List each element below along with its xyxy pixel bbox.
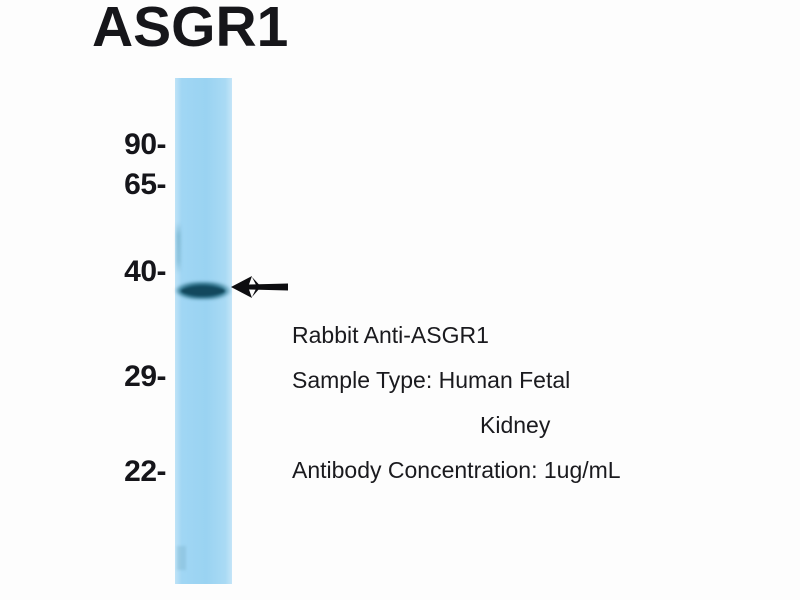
mw-marker-90-label: 90- — [124, 128, 166, 162]
annotation-line-sample-type: Sample Type: Human Fetal — [292, 358, 762, 403]
mw-marker-22-label: 22- — [124, 455, 166, 489]
gel-lane — [175, 78, 232, 584]
protein-band-core — [181, 287, 225, 295]
page-title: ASGR1 — [92, 0, 288, 58]
lane-streak-artifact — [176, 222, 181, 274]
mw-marker-22: 22- — [100, 455, 166, 489]
annotation-line-concentration: Antibody Concentration: 1ug/mL — [292, 448, 762, 493]
annotation-block: Rabbit Anti-ASGR1 Sample Type: Human Fet… — [292, 313, 762, 493]
annotation-line-antibody: Rabbit Anti-ASGR1 — [292, 313, 762, 358]
mw-marker-40-label: 40- — [124, 255, 166, 289]
mw-marker-65: 65- — [100, 168, 166, 202]
lane-smudge-artifact — [177, 546, 186, 570]
mw-marker-65-label: 65- — [124, 168, 166, 202]
annotation-line-sample-type-cont: Kidney — [292, 403, 762, 448]
mw-marker-29-label: 29- — [124, 360, 166, 394]
mw-marker-90: 90- — [100, 128, 166, 162]
western-blot-figure: ASGR1 90- 65- 40- 29- 22- Rabbit Anti-AS… — [0, 0, 800, 600]
mw-marker-40: 40- — [100, 255, 166, 289]
mw-marker-29: 29- — [100, 360, 166, 394]
left-arrow-icon — [231, 273, 289, 301]
